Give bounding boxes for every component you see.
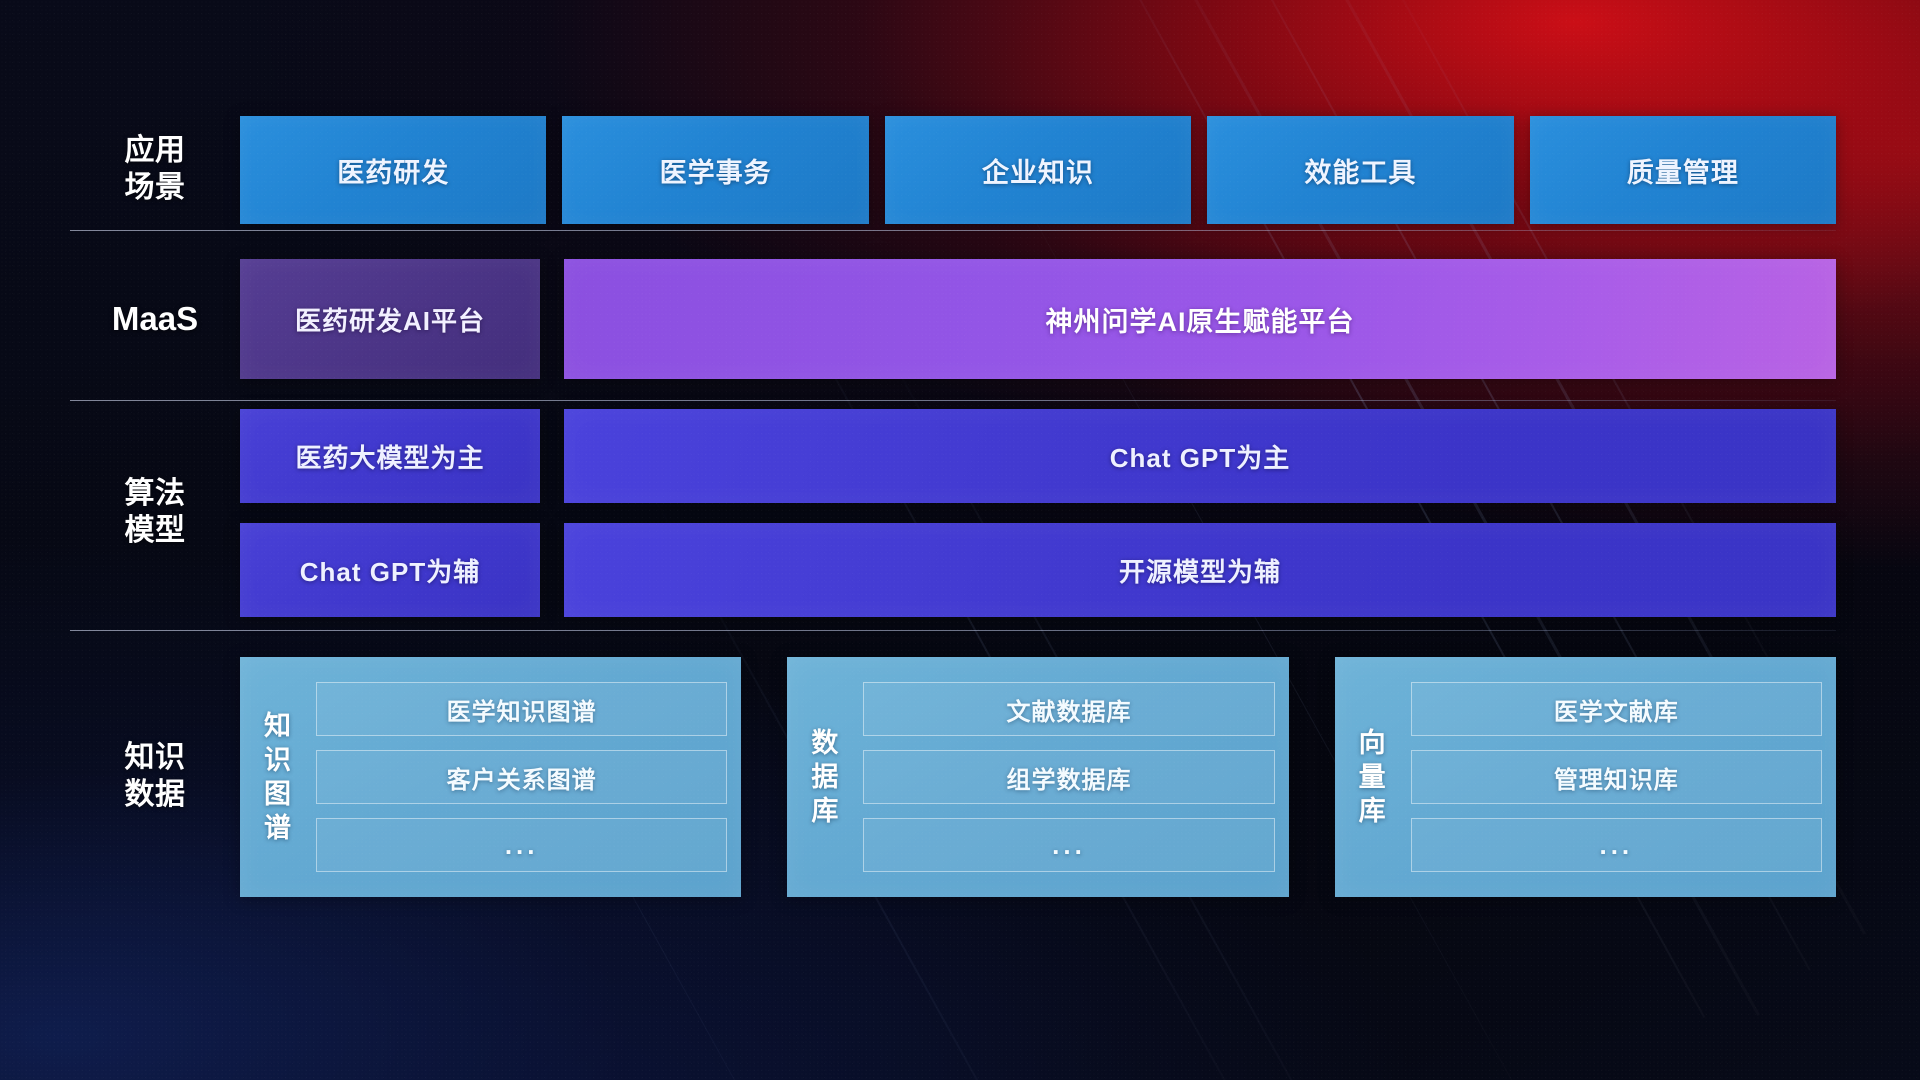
row-label-line-1: 应用 xyxy=(70,133,240,170)
knowledge-item-medical-literature-store[interactable]: 医学文献库 xyxy=(1411,682,1822,736)
knowledge-item-more-ellipsis[interactable]: ... xyxy=(863,818,1274,872)
app-card-efficiency-tools[interactable]: 效能工具 xyxy=(1207,116,1513,224)
knowledge-item-customer-relation-graph[interactable]: 客户关系图谱 xyxy=(316,750,727,804)
app-card-quality-management[interactable]: 质量管理 xyxy=(1530,116,1836,224)
row-label-knowledge-data: 知识 数据 xyxy=(70,740,240,813)
algo-card-chatgpt-secondary[interactable]: Chat GPT为辅 xyxy=(240,523,540,617)
maas-card-shenzhou-wenxue-platform[interactable]: 神州问学AI原生赋能平台 xyxy=(564,259,1836,379)
row-label-line-2: 场景 xyxy=(70,170,240,207)
knowledge-item-medical-knowledge-graph[interactable]: 医学知识图谱 xyxy=(316,682,727,736)
row-label-line-1: 知识 xyxy=(70,740,240,777)
maas-card-drug-rnd-ai-platform[interactable]: 医药研发AI平台 xyxy=(240,259,540,379)
algo-card-chatgpt-primary[interactable]: Chat GPT为主 xyxy=(564,409,1836,503)
knowledge-item-list: 医学文献库 管理知识库 ... xyxy=(1411,671,1822,883)
knowledge-panel-title-vector-store: 向量库 xyxy=(1345,671,1401,883)
row-maas: MaaS 医药研发AI平台 神州问学AI原生赋能平台 xyxy=(70,244,1836,394)
row-divider-above-knowledge xyxy=(70,630,1836,631)
algorithm-line-primary: 医药大模型为主 Chat GPT为主 xyxy=(240,409,1836,503)
row-label-line-2: 数据 xyxy=(70,777,240,814)
row-label-line-2: 模型 xyxy=(70,513,240,550)
knowledge-panel-title-database: 数据库 xyxy=(797,671,853,883)
knowledge-item-more-ellipsis[interactable]: ... xyxy=(316,818,727,872)
knowledge-panel-title-knowledge-graph: 知识图谱 xyxy=(250,671,306,883)
row-knowledge-data: 知识 数据 知识图谱 医学知识图谱 客户关系图谱 ... 数据库 文献数据库 xyxy=(70,632,1836,922)
row-label-maas: MaaS xyxy=(70,299,240,339)
row-application-scenarios: 应用 场景 医药研发 医学事务 企业知识 效能工具 质量管理 xyxy=(70,96,1836,244)
knowledge-panel-knowledge-graph[interactable]: 知识图谱 医学知识图谱 客户关系图谱 ... xyxy=(240,657,741,897)
knowledge-item-literature-database[interactable]: 文献数据库 xyxy=(863,682,1274,736)
knowledge-item-list: 医学知识图谱 客户关系图谱 ... xyxy=(316,671,727,883)
slide-canvas: 应用 场景 医药研发 医学事务 企业知识 效能工具 质量管理 MaaS 医药研发… xyxy=(0,0,1920,1080)
architecture-diagram: 应用 场景 医药研发 医学事务 企业知识 效能工具 质量管理 MaaS 医药研发… xyxy=(70,96,1836,976)
app-card-drug-rnd[interactable]: 医药研发 xyxy=(240,116,546,224)
row-algorithm-models: 算法 模型 医药大模型为主 Chat GPT为主 Chat GPT为辅 开源模型… xyxy=(70,394,1836,632)
row-label-application-scenarios: 应用 场景 xyxy=(70,133,240,206)
app-card-medical-affairs[interactable]: 医学事务 xyxy=(562,116,868,224)
row-label-line-1: 算法 xyxy=(70,476,240,513)
row-divider-above-maas xyxy=(70,230,1836,231)
knowledge-panel-database[interactable]: 数据库 文献数据库 组学数据库 ... xyxy=(787,657,1288,897)
knowledge-panel-group: 知识图谱 医学知识图谱 客户关系图谱 ... 数据库 文献数据库 组学数据库 .… xyxy=(240,657,1836,897)
algo-card-pharma-llm-primary[interactable]: 医药大模型为主 xyxy=(240,409,540,503)
algorithm-line-secondary: Chat GPT为辅 开源模型为辅 xyxy=(240,523,1836,617)
algorithm-card-group: 医药大模型为主 Chat GPT为主 Chat GPT为辅 开源模型为辅 xyxy=(240,409,1836,617)
knowledge-item-management-knowledge-store[interactable]: 管理知识库 xyxy=(1411,750,1822,804)
maas-card-group: 医药研发AI平台 神州问学AI原生赋能平台 xyxy=(240,259,1836,379)
row-divider-above-algorithm xyxy=(70,400,1836,401)
application-card-group: 医药研发 医学事务 企业知识 效能工具 质量管理 xyxy=(240,116,1836,224)
knowledge-item-more-ellipsis[interactable]: ... xyxy=(1411,818,1822,872)
row-label-algorithm-models: 算法 模型 xyxy=(70,476,240,549)
knowledge-item-omics-database[interactable]: 组学数据库 xyxy=(863,750,1274,804)
app-card-enterprise-knowledge[interactable]: 企业知识 xyxy=(885,116,1191,224)
knowledge-item-list: 文献数据库 组学数据库 ... xyxy=(863,671,1274,883)
knowledge-panel-vector-store[interactable]: 向量库 医学文献库 管理知识库 ... xyxy=(1335,657,1836,897)
algo-card-opensource-secondary[interactable]: 开源模型为辅 xyxy=(564,523,1836,617)
